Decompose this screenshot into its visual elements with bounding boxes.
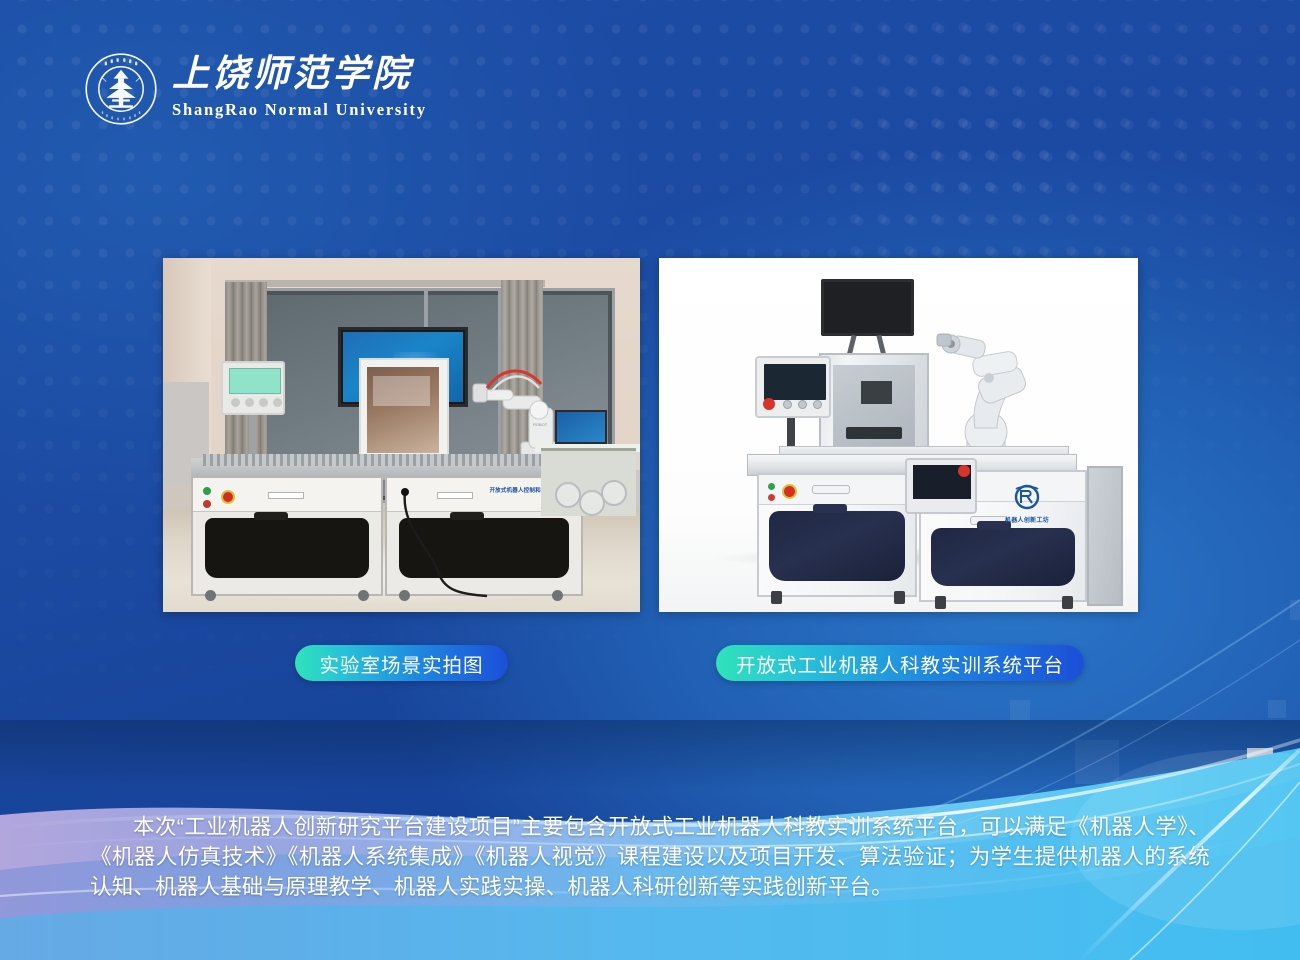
lab-caster-wheel [552, 590, 563, 601]
product-caster-wheel [771, 591, 782, 604]
product-emergency-stop-icon [958, 465, 970, 477]
product-cabinet-window [769, 511, 905, 581]
brand-r-icon [985, 484, 1069, 514]
svg-text:ROBOT: ROBOT [533, 422, 548, 427]
lab-hmi-button [245, 398, 254, 407]
lab-conveyor [203, 454, 593, 466]
caption-product-platform[interactable]: 开放式工业机器人科教实训系统平台 [716, 645, 1084, 681]
laboratory-photo[interactable]: ROBOT 开放式机器人控制和视觉科教系统 [163, 258, 640, 612]
product-hmi-screen [764, 364, 826, 400]
lab-hmi-buttons [231, 398, 281, 408]
lab-hmi-button [231, 398, 240, 407]
caption-laboratory-photo[interactable]: 实验室场景实拍图 [295, 645, 508, 681]
product-emergency-stop-icon [763, 398, 775, 410]
lab-cabinet-header [193, 478, 381, 512]
lab-laptop [555, 410, 607, 444]
product-secondary-hmi [905, 458, 977, 514]
product-render-photo[interactable]: 机器人创新工坊 [659, 258, 1138, 612]
product-door-latch [812, 485, 850, 494]
lab-laptop-screen [557, 412, 605, 442]
product-green-button-icon [768, 483, 775, 490]
lab-workcell [359, 358, 449, 462]
seal-svg [84, 52, 158, 126]
product-enclosure-bed [846, 427, 902, 439]
lab-stool [555, 482, 581, 508]
product-cabinet-window [931, 528, 1075, 586]
product-red-button-icon [768, 494, 775, 501]
product-caster-wheel [935, 596, 946, 609]
lab-drawer-handle [268, 492, 304, 499]
product-knob-icon [783, 400, 792, 409]
lab-workcell-window [367, 367, 439, 453]
lab-hmi-button [259, 398, 268, 407]
product-monitor-screen [824, 282, 911, 333]
university-logo: 上饶师范学院 ShangRao Normal University [84, 52, 424, 128]
product-monitor [821, 279, 914, 336]
lab-power-cable [399, 488, 489, 598]
lab-caster-wheel [358, 590, 369, 601]
product-caster-wheel [1062, 596, 1073, 609]
lab-cabinet-left [191, 476, 383, 596]
lab-caster-wheel [205, 590, 216, 601]
product-enclosure-interior [833, 365, 915, 453]
product-emergency-stop-icon [782, 484, 797, 499]
product-knob-icon [798, 400, 807, 409]
product-cabinet-side [1087, 466, 1123, 606]
logo-chinese-name: 上饶师范学院 [172, 52, 422, 98]
lab-green-button-icon [203, 487, 211, 495]
product-cabinet-left [757, 473, 917, 597]
product-brand-text: 机器人创新工坊 [985, 515, 1069, 524]
lab-red-button-icon [203, 500, 211, 508]
university-seal-icon [84, 52, 158, 126]
lab-emergency-stop-icon [221, 490, 235, 504]
lab-hmi-button [273, 398, 282, 407]
product-brand-logo: 机器人创新工坊 [985, 484, 1069, 524]
logo-wordmark: 上饶师范学院 ShangRao Normal University [172, 52, 422, 126]
product-hmi-panel [755, 356, 831, 418]
lab-hmi-screen [229, 368, 281, 394]
lab-cabinet-window [205, 518, 369, 578]
slide-stage: 上饶师范学院 ShangRao Normal University [0, 0, 1300, 960]
product-knob-icon [813, 400, 822, 409]
product-caster-wheel [894, 591, 905, 604]
lab-hmi-panel [221, 361, 285, 415]
product-enclosure-mechanism [861, 381, 892, 404]
lab-stool [601, 480, 627, 506]
description-paragraph: 本次“工业机器人创新研究平台建设项目”主要包含开放式工业机器人科教实训系统平台，… [90, 812, 1210, 902]
lab-curtain-rail [225, 280, 545, 287]
logo-english-name: ShangRao Normal University [172, 100, 422, 120]
lab-stools [555, 476, 625, 524]
